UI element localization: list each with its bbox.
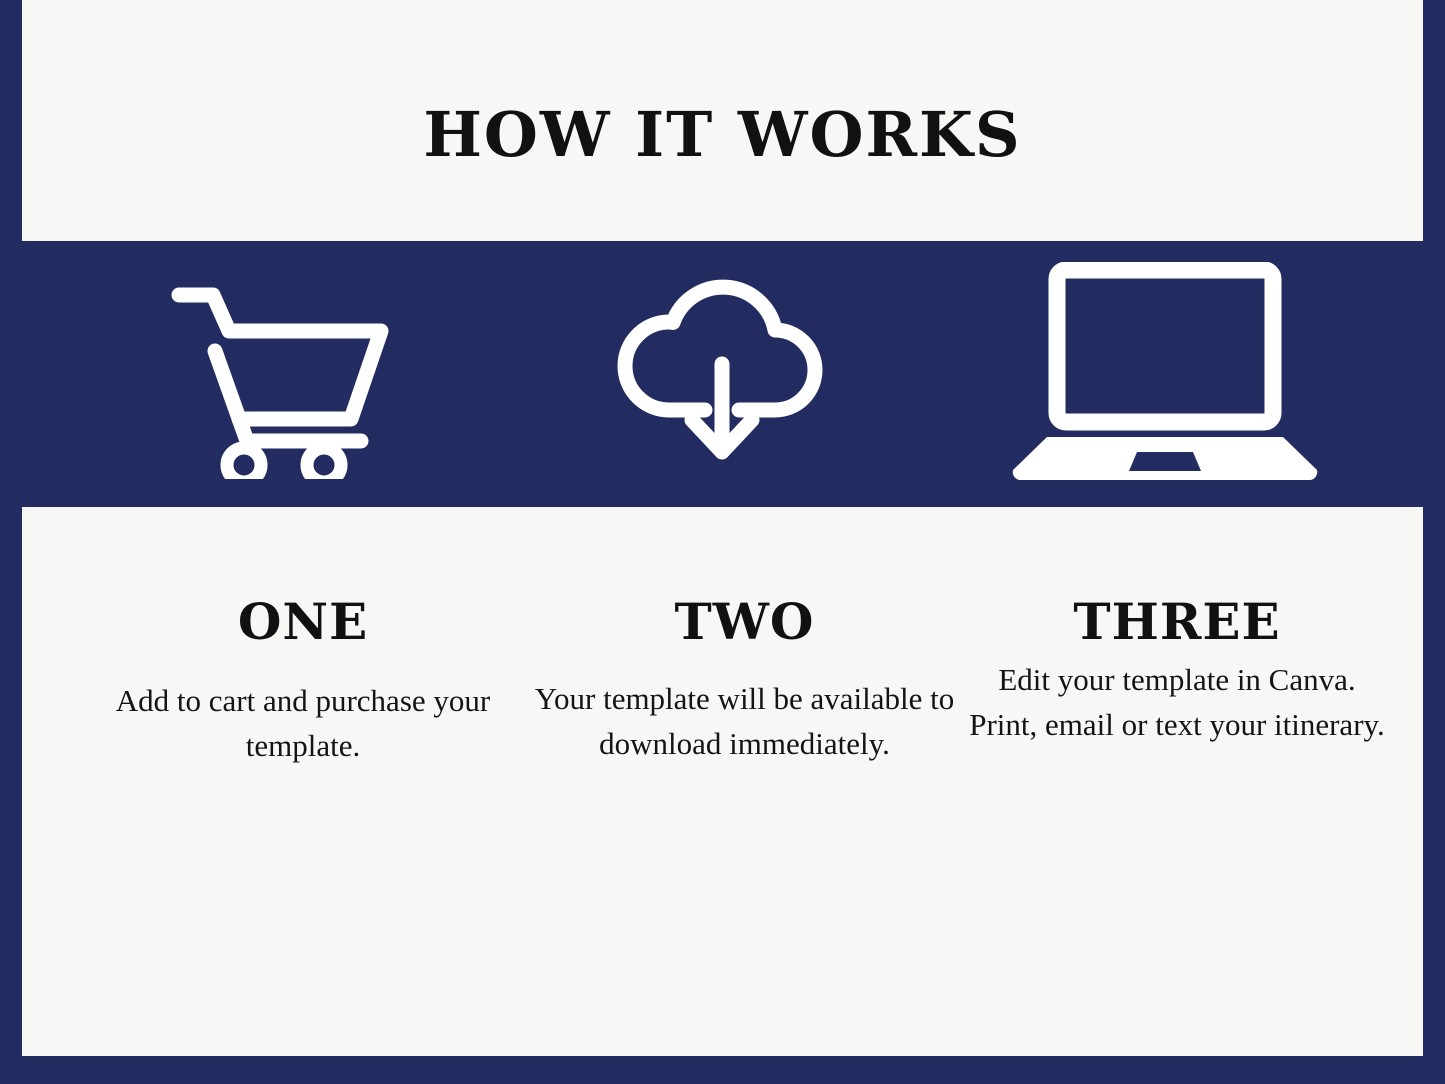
icon-slot-three [985,241,1345,507]
laptop-icon [1005,262,1325,487]
how-it-works-poster: HOW IT WORKS [0,0,1445,1084]
icon-band [0,241,1445,507]
steps-panel: ONE Add to cart and purchase your templa… [22,507,1423,1056]
step-three-heading: THREE [962,597,1392,647]
step-three: THREE Edit your template in Canva. Print… [962,597,1392,748]
step-one-description: Add to cart and purchase your template. [58,678,548,769]
title-panel: HOW IT WORKS [22,0,1423,241]
step-three-description: Edit your template in Canva. Print, emai… [962,657,1392,748]
step-two: TWO Your template will be available to d… [522,597,967,767]
shopping-cart-icon [165,269,395,479]
step-two-description: Your template will be available to downl… [522,676,967,767]
icon-slot-two [542,241,902,507]
cloud-download-icon [617,272,827,477]
step-two-heading: TWO [522,597,967,647]
step-one-heading: ONE [58,597,548,647]
icon-slot-one [100,241,460,507]
step-one: ONE Add to cart and purchase your templa… [58,597,548,769]
page-title: HOW IT WORKS [22,104,1423,166]
